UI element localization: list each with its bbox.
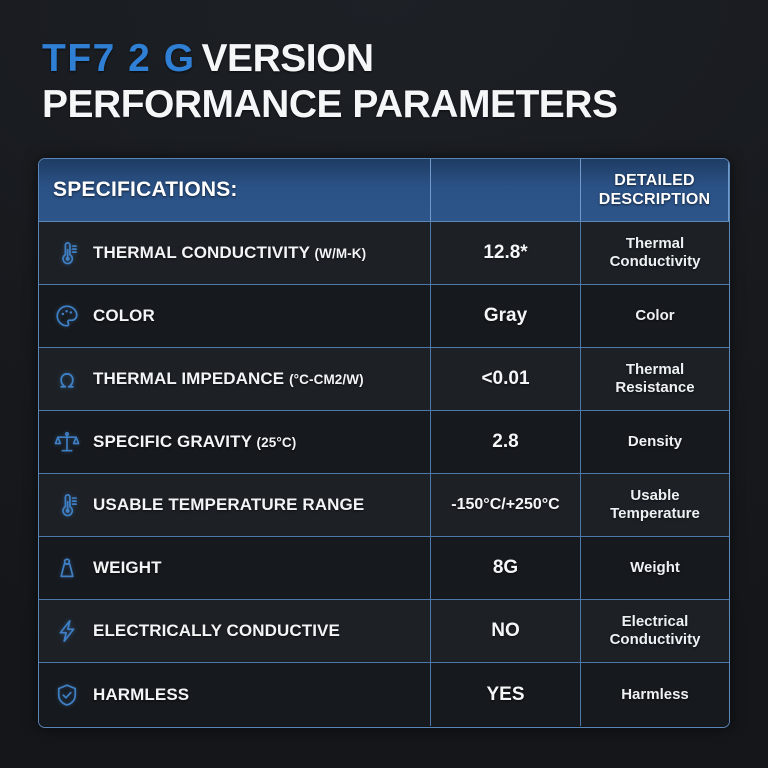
product-model-name: TF7 2 G xyxy=(42,37,196,80)
table-row: USABLE TEMPERATURE RANGE -150°C/+250°C U… xyxy=(39,474,729,537)
row-value-cell: NO xyxy=(431,600,581,662)
thermometer-icon xyxy=(53,239,81,267)
row-value: 8G xyxy=(493,557,518,579)
table-header-row: SPECIFICATIONS: DETAILED DESCRIPTION xyxy=(39,159,729,222)
row-description-cell: Color xyxy=(581,285,729,347)
row-label-unit: (25°C) xyxy=(257,435,297,450)
omega-icon xyxy=(53,365,81,393)
row-description-line1: Usable xyxy=(630,487,679,504)
title-version-word: VERSION xyxy=(202,37,374,80)
row-label-text: THERMAL IMPEDANCE xyxy=(93,369,284,388)
row-spec-cell: USABLE TEMPERATURE RANGE xyxy=(39,474,431,536)
row-label: HARMLESS xyxy=(93,685,189,705)
row-value: YES xyxy=(486,684,524,706)
row-label: ELECTRICALLY CONDUCTIVE xyxy=(93,621,340,641)
row-description-line2: Resistance xyxy=(615,379,694,396)
row-description-line1: Harmless xyxy=(621,686,689,703)
row-spec-cell: ELECTRICALLY CONDUCTIVE xyxy=(39,600,431,662)
row-description-line1: Color xyxy=(635,307,674,324)
header-cell-description: DETAILED DESCRIPTION xyxy=(581,159,729,221)
header-description-line2: DESCRIPTION xyxy=(599,191,711,208)
row-value-cell: Gray xyxy=(431,285,581,347)
row-value-cell: <0.01 xyxy=(431,348,581,410)
row-label-text: ELECTRICALLY CONDUCTIVE xyxy=(93,621,340,640)
row-description-cell: Electrical Conductivity xyxy=(581,600,729,662)
weight-icon xyxy=(53,554,81,582)
row-description: Thermal Conductivity xyxy=(587,235,723,271)
row-description-line2: Temperature xyxy=(610,505,700,522)
row-description: Density xyxy=(587,433,723,451)
row-label-text: HARMLESS xyxy=(93,685,189,704)
row-label: THERMAL IMPEDANCE (°C-CM2/W) xyxy=(93,369,364,389)
row-label-unit: (°C-CM2/W) xyxy=(289,372,364,387)
lightning-bolt-icon xyxy=(53,617,81,645)
row-description-line1: Thermal xyxy=(626,361,684,378)
row-label-text: WEIGHT xyxy=(93,558,162,577)
row-description: Harmless xyxy=(587,686,723,704)
row-description-cell: Weight xyxy=(581,537,729,599)
row-description: Electrical Conductivity xyxy=(587,613,723,649)
row-label-text: COLOR xyxy=(93,306,155,325)
row-label: USABLE TEMPERATURE RANGE xyxy=(93,495,364,515)
row-description-cell: Thermal Conductivity xyxy=(581,222,729,284)
shield-check-icon xyxy=(53,681,81,709)
row-label: COLOR xyxy=(93,306,155,326)
row-label-text: USABLE TEMPERATURE RANGE xyxy=(93,495,364,514)
row-description-cell: Harmless xyxy=(581,663,729,726)
title-line-1: TF7 2 GVERSION xyxy=(42,36,732,82)
row-description: Weight xyxy=(587,559,723,577)
row-description-line2: Conductivity xyxy=(610,253,701,270)
row-spec-cell: SPECIFIC GRAVITY (25°C) xyxy=(39,411,431,473)
row-description: Color xyxy=(587,307,723,325)
row-label-text: THERMAL CONDUCTIVITY xyxy=(93,243,310,262)
row-description-line2: Conductivity xyxy=(610,631,701,648)
specifications-table: SPECIFICATIONS: DETAILED DESCRIPTION xyxy=(38,158,730,728)
row-value: <0.01 xyxy=(481,368,529,390)
title-line-2: PERFORMANCE PARAMETERS xyxy=(42,82,732,128)
row-description-line1: Thermal xyxy=(626,235,684,252)
header-label-description: DETAILED DESCRIPTION xyxy=(587,171,722,209)
row-value-cell: -150°C/+250°C xyxy=(431,474,581,536)
row-description-line1: Density xyxy=(628,433,682,450)
row-value: NO xyxy=(491,620,520,642)
row-value: 12.8* xyxy=(483,242,527,264)
header-description-line1: DETAILED xyxy=(614,172,694,189)
row-label: THERMAL CONDUCTIVITY (W/M-K) xyxy=(93,243,366,263)
row-value-cell: YES xyxy=(431,663,581,726)
product-spec-page: TF7 2 GVERSION PERFORMANCE PARAMETERS SP… xyxy=(0,0,768,768)
table-row: WEIGHT 8G Weight xyxy=(39,537,729,600)
row-label-text: SPECIFIC GRAVITY xyxy=(93,432,252,451)
row-description-line1: Weight xyxy=(630,559,680,576)
row-spec-cell: HARMLESS xyxy=(39,663,431,726)
row-label-unit: (W/M-K) xyxy=(315,246,367,261)
header-cell-specifications: SPECIFICATIONS: xyxy=(39,159,431,221)
table-row: COLOR Gray Color xyxy=(39,285,729,348)
row-value-cell: 8G xyxy=(431,537,581,599)
row-spec-cell: COLOR xyxy=(39,285,431,347)
row-value: -150°C/+250°C xyxy=(451,496,559,514)
table-row: HARMLESS YES Harmless xyxy=(39,663,729,726)
row-value: 2.8 xyxy=(492,431,518,453)
row-spec-cell: THERMAL IMPEDANCE (°C-CM2/W) xyxy=(39,348,431,410)
header-cell-value xyxy=(431,159,581,221)
row-description-cell: Thermal Resistance xyxy=(581,348,729,410)
table-row: SPECIFIC GRAVITY (25°C) 2.8 Density xyxy=(39,411,729,474)
row-description-line1: Electrical xyxy=(622,613,689,630)
row-value: Gray xyxy=(484,305,527,327)
balance-scale-icon xyxy=(53,428,81,456)
row-description-cell: Usable Temperature xyxy=(581,474,729,536)
page-title: TF7 2 GVERSION PERFORMANCE PARAMETERS xyxy=(42,36,732,128)
row-description: Thermal Resistance xyxy=(587,361,723,397)
row-spec-cell: THERMAL CONDUCTIVITY (W/M-K) xyxy=(39,222,431,284)
palette-icon xyxy=(53,302,81,330)
thermometer-icon xyxy=(53,491,81,519)
row-description: Usable Temperature xyxy=(587,487,723,523)
table-row: THERMAL IMPEDANCE (°C-CM2/W) <0.01 Therm… xyxy=(39,348,729,411)
table-row: THERMAL CONDUCTIVITY (W/M-K) 12.8* Therm… xyxy=(39,222,729,285)
table-row: ELECTRICALLY CONDUCTIVE NO Electrical Co… xyxy=(39,600,729,663)
header-label-specifications: SPECIFICATIONS: xyxy=(53,178,238,202)
row-value-cell: 2.8 xyxy=(431,411,581,473)
row-label: SPECIFIC GRAVITY (25°C) xyxy=(93,432,296,452)
row-spec-cell: WEIGHT xyxy=(39,537,431,599)
row-description-cell: Density xyxy=(581,411,729,473)
row-value-cell: 12.8* xyxy=(431,222,581,284)
row-label: WEIGHT xyxy=(93,558,162,578)
